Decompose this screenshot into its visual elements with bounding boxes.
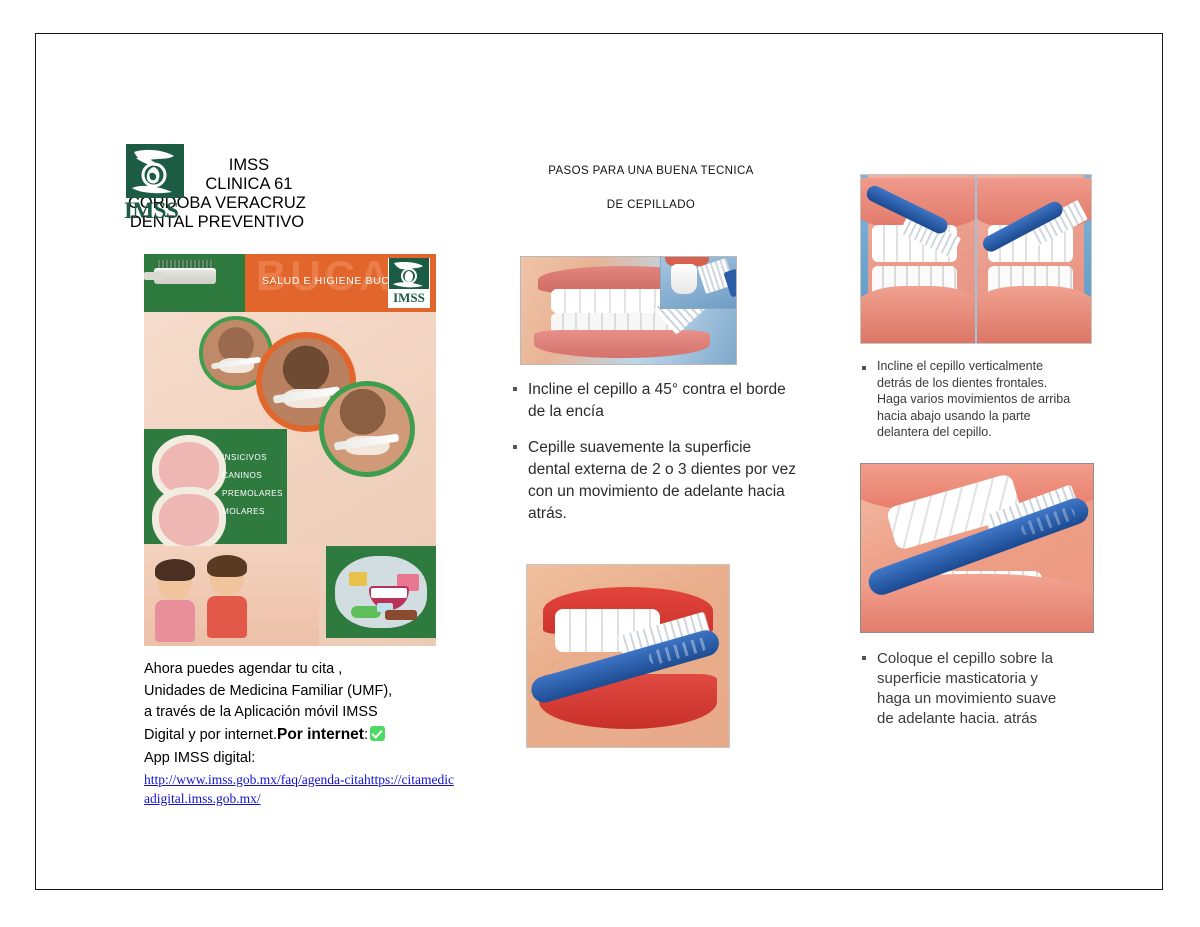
imss-logo: IMSS bbox=[124, 144, 186, 222]
left-line-4-normal: Digital y por internet. bbox=[144, 727, 277, 743]
green-check-badge-icon bbox=[370, 726, 385, 741]
center-bullet-2: Cepille suavemente la superficie dental … bbox=[511, 437, 796, 525]
poster-kid-girl-hair bbox=[155, 559, 195, 581]
poster-kid-boy-body bbox=[207, 596, 247, 638]
poster-toothbrush-handle bbox=[144, 272, 162, 280]
poster-imss-logo: IMSS bbox=[388, 258, 430, 308]
left-paragraph: Ahora puedes agendar tu cita , Unidades … bbox=[144, 659, 459, 808]
poster-tooth-label-molares: MOLARES bbox=[222, 507, 265, 516]
right-bullet-top-1: Incline el cepillo verticalmente detrás … bbox=[860, 358, 1075, 441]
left-column: IMSS IMSS CLINICA 61 CORDOBA VERACRUZ DE… bbox=[124, 144, 454, 232]
poster-kid-girl-body bbox=[155, 600, 195, 642]
left-line-4: Digital y por internet.Por internet: bbox=[144, 724, 459, 747]
imss-appointment-url-link[interactable]: http://www.imss.gob.mx/faq/agenda-citaht… bbox=[144, 770, 459, 808]
app-line: App IMSS digital: bbox=[144, 748, 459, 770]
poster-imss-emblem-icon bbox=[388, 258, 430, 291]
poster-kid-boy bbox=[210, 560, 247, 638]
left-line-2: Unidades de Medicina Familiar (UMF), bbox=[144, 681, 459, 703]
right-image-chewing-surface bbox=[860, 463, 1094, 633]
center-bullets-ul: Incline el cepillo a 45° contra el borde… bbox=[511, 379, 796, 525]
left-line-3: a través de la Aplicación móvil IMSS bbox=[144, 702, 459, 724]
center-column: PASOS PARA UNA BUENA TECNICA DE CEPILLAD… bbox=[506, 154, 796, 222]
center-bullet-1: Incline el cepillo a 45° contra el borde… bbox=[511, 379, 796, 423]
brand-text-block: IMSS CLINICA 61 CORDOBA VERACRUZ DENTAL … bbox=[192, 156, 306, 232]
imss-wordmark: IMSS bbox=[124, 201, 186, 221]
center-title-line-2: DE CEPILLADO bbox=[506, 188, 796, 222]
poster-kid-girl-head bbox=[158, 564, 192, 600]
inset-tooth bbox=[671, 264, 697, 294]
brand-line-2: CLINICA 61 bbox=[192, 175, 306, 194]
center-image-outer-surface bbox=[526, 564, 730, 748]
poster-tooth-diagram: INSICIVOS CANINOS PREMOLARES MOLARES bbox=[144, 429, 287, 544]
poster-kid-boy-head bbox=[210, 560, 244, 596]
right-column: Incline el cepillo verticalmente detrás … bbox=[860, 174, 1100, 743]
center-title: PASOS PARA UNA BUENA TECNICA DE CEPILLAD… bbox=[506, 154, 796, 222]
poster-toothbrush-icon bbox=[154, 268, 216, 284]
right-bullet-bottom-1: Coloque el cepillo sobre la superficie m… bbox=[860, 649, 1075, 729]
center-image-inset-closeup bbox=[660, 256, 737, 309]
center-image-45-degree bbox=[520, 256, 737, 365]
poster-tooth-label-caninos: CANINOS bbox=[222, 471, 262, 480]
page-border-frame: IMSS IMSS CLINICA 61 CORDOBA VERACRUZ DE… bbox=[35, 33, 1163, 890]
right-bullets-top-ul: Incline el cepillo verticalmente detrás … bbox=[860, 358, 1075, 441]
poster-kid-girl bbox=[158, 564, 195, 642]
poster-brush-handle-icon bbox=[385, 610, 417, 620]
poster-image: BUCAL SALUD E HIGIENE BUCAL IMSS bbox=[144, 254, 436, 646]
brand-header: IMSS IMSS CLINICA 61 CORDOBA VERACRUZ DE… bbox=[124, 144, 454, 232]
poster-tooth-label-premolares: PREMOLARES bbox=[222, 489, 283, 498]
right-image-panel-left bbox=[861, 175, 975, 343]
panel-right-lower-gum bbox=[977, 286, 1091, 343]
imss-eagle-emblem-icon bbox=[124, 144, 186, 202]
poster-tooth-label-incisivos: INSICIVOS bbox=[222, 453, 267, 462]
right-image-panel-right bbox=[977, 175, 1091, 343]
poster-imss-wordmark: IMSS bbox=[388, 291, 430, 304]
brand-line-1: IMSS bbox=[192, 156, 306, 175]
poster-lower-arch bbox=[152, 487, 226, 553]
right-bullet-list-top: Incline el cepillo verticalmente detrás … bbox=[860, 358, 1075, 441]
left-line-4-colon: : bbox=[364, 727, 368, 743]
poster-cloud-shape bbox=[335, 556, 427, 628]
poster-hygiene-card bbox=[326, 546, 436, 638]
left-line-4-bold: Por internet bbox=[277, 726, 364, 743]
left-line-1: Ahora puedes agendar tu cita , bbox=[144, 659, 459, 681]
right-bullet-list-bottom: Coloque el cepillo sobre la superficie m… bbox=[860, 649, 1075, 729]
poster-kids-illustration bbox=[144, 546, 319, 646]
poster-photo-teen bbox=[319, 381, 415, 477]
center-bullet-list: Incline el cepillo a 45° contra el borde… bbox=[511, 379, 796, 539]
poster-kid-boy-hair bbox=[207, 555, 247, 577]
panel-left-lower-gum bbox=[861, 286, 975, 343]
flyer-page: IMSS IMSS CLINICA 61 CORDOBA VERACRUZ DE… bbox=[0, 0, 1200, 927]
right-bullets-bottom-ul: Coloque el cepillo sobre la superficie m… bbox=[860, 649, 1075, 729]
poster-smile-teeth bbox=[371, 588, 407, 598]
poster-floss-icon bbox=[349, 572, 367, 586]
right-image-vertical-brushing bbox=[860, 174, 1092, 344]
center-title-line-1: PASOS PARA UNA BUENA TECNICA bbox=[548, 165, 753, 177]
poster-banner-title: SALUD E HIGIENE BUCAL bbox=[262, 275, 404, 287]
